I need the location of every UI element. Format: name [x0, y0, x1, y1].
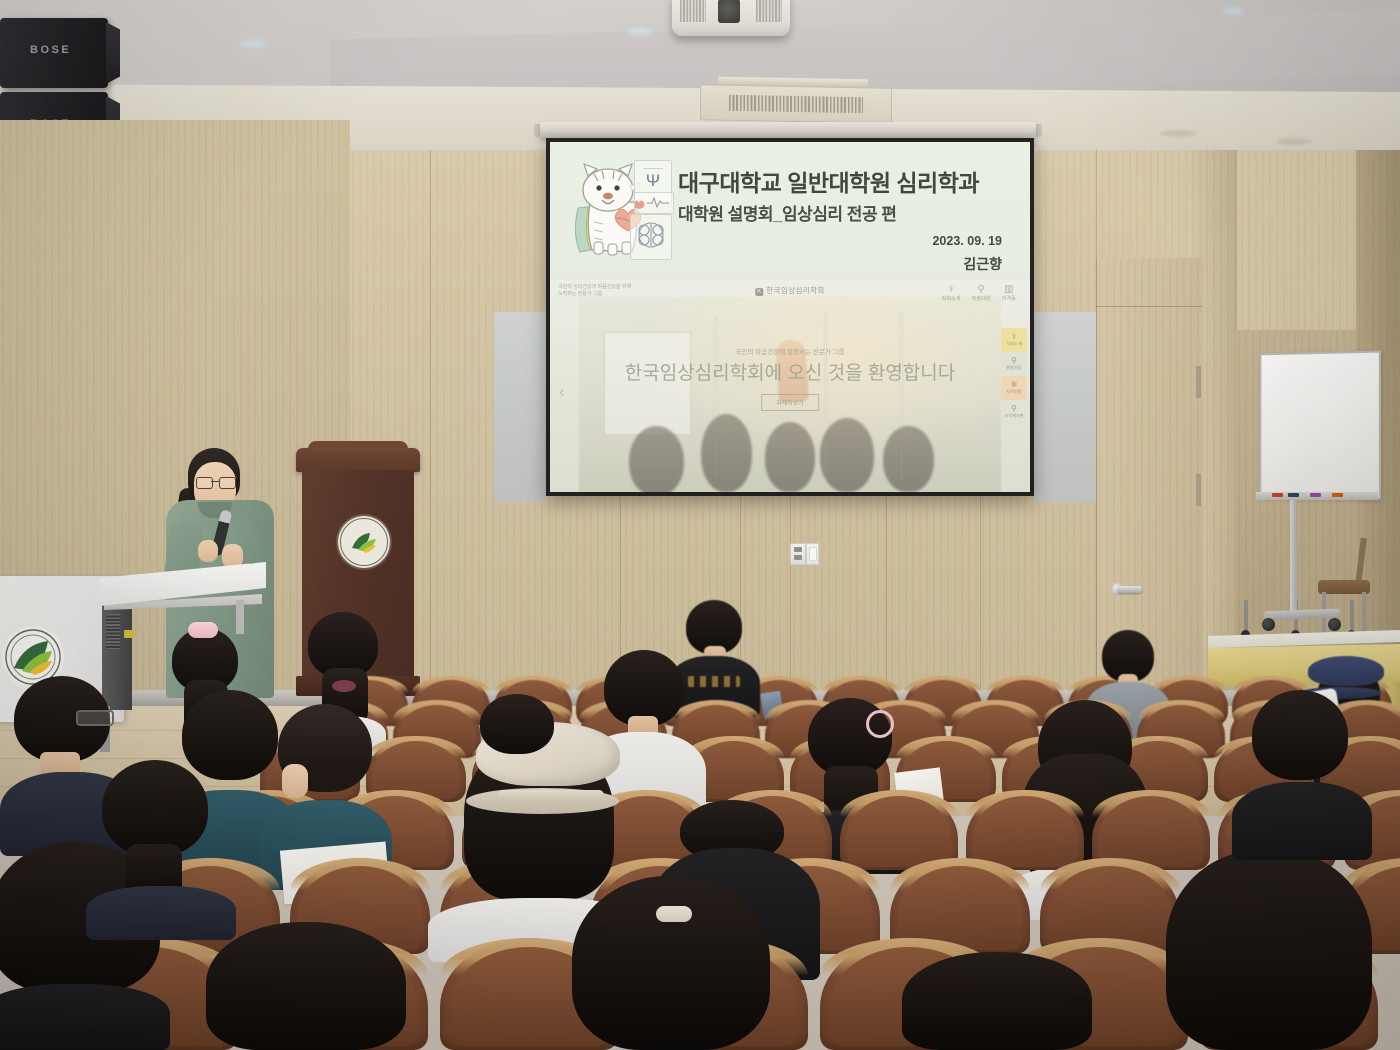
- audience-member-foreground: [206, 922, 420, 1050]
- website-logo-text: 한국임상심리학회: [766, 286, 824, 295]
- audience-member: [470, 694, 566, 754]
- slide-title: 대구대학교 일반대학원 심리학과: [678, 164, 979, 198]
- audience-member: [1232, 690, 1372, 860]
- torso: [86, 886, 236, 940]
- website-tagline: 국민의 심리건강과 마음건강을 위해노력하는 전문가 그룹: [558, 284, 631, 298]
- ceiling-downlight: [1222, 8, 1244, 14]
- light-switch[interactable]: [806, 543, 819, 565]
- head: [206, 922, 406, 1050]
- website-quickmenu[interactable]: ⚕ 학회소개 ⚲ 회원가입 ✲ 자격검정 ⚲ 자격게시판: [1001, 328, 1027, 424]
- cap-strap: [498, 790, 604, 801]
- door-hinge: [1196, 366, 1201, 398]
- membership-icon: ⚕: [941, 284, 960, 295]
- lectern-vent: [106, 614, 120, 650]
- search-icon: ⚲: [1011, 405, 1017, 413]
- head: [1252, 690, 1348, 780]
- quickmenu-label: 학회소개: [1006, 341, 1021, 347]
- slide-presenter-name: 김근향: [963, 254, 1002, 274]
- marker[interactable]: [1310, 493, 1321, 497]
- head: [102, 760, 208, 856]
- projection-screen: Ψ: [546, 138, 1034, 496]
- bose-logo: BOSE: [30, 44, 71, 56]
- carousel-prev-icon[interactable]: ‹: [559, 382, 565, 402]
- slide-subtitle: 대학원 설명회_임상심리 전공 편: [678, 200, 896, 225]
- whiteboard-foot: [1264, 609, 1340, 621]
- slide-date: 2023. 09. 19: [932, 234, 1002, 248]
- topnav-item[interactable]: ⚲ 학술대회: [972, 284, 991, 302]
- lecture-hall-photo: BOSE BOSE: [0, 0, 1400, 1050]
- presenter-hand-left: [198, 540, 218, 562]
- pink-hair-bow: [188, 622, 218, 638]
- topnav-item[interactable]: ▥ 자격증: [1002, 284, 1016, 302]
- hand: [282, 764, 308, 798]
- ceiling-projector: [672, 0, 790, 36]
- eyeglasses-icon: [76, 710, 114, 726]
- projection-screen-roller: [540, 122, 1036, 138]
- audience-member-foreground: [902, 952, 1092, 1050]
- eyeglasses-icon: [196, 477, 234, 487]
- website-welcome-headline: 한국임상심리학회에 오신 것을 환영합니다: [625, 358, 955, 385]
- door-top-seam: [1096, 306, 1202, 307]
- quickmenu-item[interactable]: ⚕ 학회소개: [1001, 328, 1027, 352]
- projected-website: 국민의 심리건강과 마음건강을 위해노력하는 전문가 그룹 K한국임상심리학회 …: [550, 280, 1030, 492]
- hair-clip: [16, 896, 56, 916]
- hair-tie: [656, 906, 692, 922]
- audience-member-foreground: [548, 876, 804, 1050]
- website-logo-mark: K: [755, 288, 763, 296]
- door-lever-handle[interactable]: [1118, 586, 1142, 593]
- marker[interactable]: [1288, 493, 1299, 497]
- website-topnav[interactable]: ⚕ 학회소개 ⚲ 학술대회 ▥ 자격증: [941, 284, 1016, 302]
- topnav-label: 학술대회: [972, 296, 991, 302]
- signup-icon: ⚲: [1011, 357, 1017, 365]
- ceiling-downlight: [628, 28, 652, 35]
- lectern-button[interactable]: [124, 630, 134, 638]
- exam-icon: ✲: [1011, 381, 1018, 389]
- audience-member-foreground: [1136, 850, 1400, 1050]
- quickmenu-item[interactable]: ⚲ 자격게시판: [1001, 400, 1027, 424]
- daegu-university-emblem: [338, 516, 390, 568]
- bose-speaker-upper: BOSE: [0, 18, 108, 88]
- head: [604, 650, 684, 726]
- podium-top: [296, 448, 420, 472]
- topnav-item[interactable]: ⚕ 학회소개: [941, 284, 960, 302]
- head: [572, 876, 770, 1050]
- quickmenu-label: 회원가입: [1006, 365, 1021, 371]
- door-hinge: [1196, 474, 1201, 506]
- emblem-leaf-mark: [349, 530, 379, 554]
- projection-screen-surface: Ψ: [550, 142, 1030, 492]
- torso: [1232, 782, 1372, 860]
- wall-panel-right-of-screen: [1034, 312, 1096, 502]
- psi-symbol: Ψ: [646, 171, 660, 191]
- marker[interactable]: [1272, 493, 1283, 497]
- audience-member: [86, 760, 236, 940]
- ceiling-air-vent: [700, 84, 892, 124]
- website-cta-button[interactable]: 자세히보기: [761, 394, 819, 411]
- wall-panel-left-of-screen: [494, 312, 546, 502]
- brain-card: [630, 214, 672, 260]
- title-slide: Ψ: [550, 142, 1030, 280]
- torso: [0, 984, 170, 1050]
- topnav-label: 자격증: [1002, 296, 1016, 302]
- pink-hair-clip: [866, 710, 894, 738]
- whiteboard-post: [1290, 500, 1297, 616]
- power-outlet: [790, 543, 806, 565]
- head: [480, 694, 554, 754]
- topnav-label: 학회소개: [941, 296, 960, 302]
- quickmenu-item[interactable]: ⚲ 회원가입: [1001, 352, 1027, 376]
- certification-icon: ▥: [1002, 284, 1016, 295]
- website-logo: K한국임상심리학회: [755, 285, 824, 296]
- whiteboard-surface[interactable]: [1260, 351, 1381, 500]
- head: [1166, 850, 1372, 1050]
- mobile-whiteboard[interactable]: [1258, 352, 1378, 652]
- quickmenu-label: 자격검정: [1006, 389, 1021, 395]
- ceiling-downlight: [240, 40, 266, 47]
- quickmenu-item[interactable]: ✲ 자격검정: [1001, 376, 1027, 400]
- quickmenu-label: 자격게시판: [1004, 413, 1023, 419]
- marker[interactable]: [1332, 493, 1343, 497]
- wooden-door[interactable]: [1096, 258, 1203, 688]
- conference-icon: ⚲: [972, 284, 991, 295]
- head: [902, 952, 1092, 1050]
- website-slogan: 국민의 마음건강에 앞장서는 전문가 그룹: [736, 346, 845, 356]
- white-tiger-mascot: Ψ: [564, 156, 674, 268]
- intro-icon: ⚕: [1012, 333, 1016, 341]
- heart-ecg-card: [634, 192, 674, 214]
- hair-scrunchie: [332, 680, 356, 692]
